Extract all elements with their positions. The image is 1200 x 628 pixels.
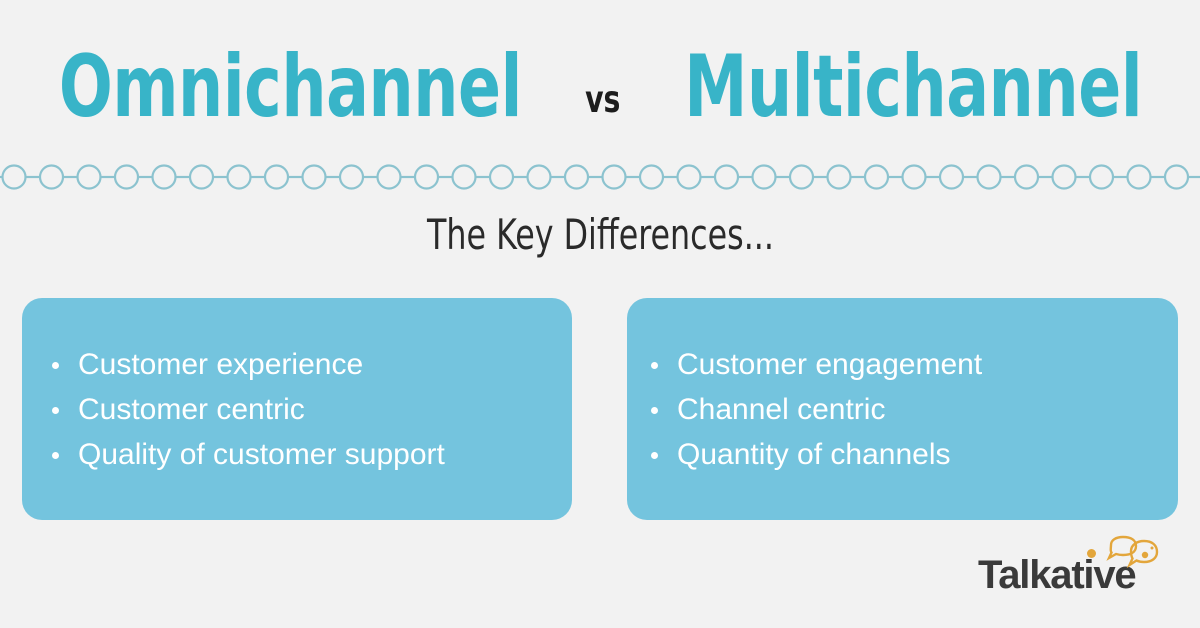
circle-chain-divider	[0, 160, 1200, 194]
list-item: Quantity of channels	[645, 432, 1178, 477]
speech-bubbles-icon	[1097, 535, 1159, 582]
list-item: Customer experience	[46, 342, 572, 387]
omnichannel-card: Customer experience Customer centric Qua…	[22, 298, 572, 520]
list-item-label: Customer engagement	[677, 348, 982, 381]
title-versus: vs	[586, 81, 621, 118]
page-title: Omnichannel vs Multichannel	[0, 44, 1200, 140]
multichannel-bullet-list: Customer engagement Channel centric Quan…	[645, 342, 1178, 477]
list-item-label: Channel centric	[677, 393, 885, 426]
bullet-icon	[52, 407, 59, 414]
bullet-icon	[52, 452, 59, 459]
list-item-label: Quantity of channels	[677, 438, 951, 471]
list-item-label: Customer experience	[78, 348, 363, 381]
bullet-icon	[651, 407, 658, 414]
bullet-icon	[52, 362, 59, 369]
subtitle: The Key Differences...	[0, 212, 1200, 258]
logo-i-dot-icon	[1087, 549, 1096, 558]
list-item: Channel centric	[645, 387, 1178, 432]
bullet-icon	[651, 362, 658, 369]
omnichannel-bullet-list: Customer experience Customer centric Qua…	[46, 342, 572, 477]
list-item-label: Customer centric	[78, 393, 305, 426]
bullet-icon	[651, 452, 658, 459]
title-multichannel: Multichannel	[684, 44, 1142, 130]
title-omnichannel: Omnichannel	[58, 44, 521, 130]
list-item: Quality of customer support	[46, 432, 572, 477]
infographic-canvas: Omnichannel vs Multichannel The Key Diff…	[0, 0, 1200, 628]
subtitle-text: The Key Differences...	[427, 212, 774, 258]
list-item: Customer centric	[46, 387, 572, 432]
talkative-logo: Talkative	[978, 543, 1178, 595]
list-item-label: Quality of customer support	[78, 438, 445, 471]
multichannel-card: Customer engagement Channel centric Quan…	[627, 298, 1178, 520]
list-item: Customer engagement	[645, 342, 1178, 387]
